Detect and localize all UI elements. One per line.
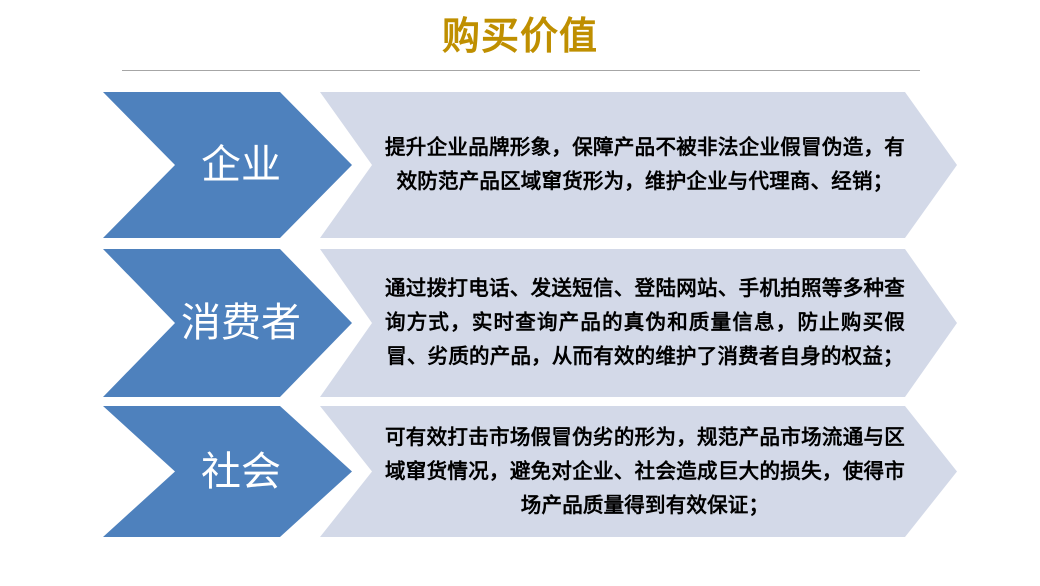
page-title: 购买价值 <box>0 14 1040 60</box>
label-chevron[interactable]: 消费者 <box>103 249 352 397</box>
label-chevron-label: 企业 <box>181 92 301 238</box>
label-chevron[interactable]: 社会 <box>103 406 352 537</box>
value-row: 企业 提升企业品牌形象，保障产品不被非法企业假冒伪造，有效防范产品区域窜货形为，… <box>0 92 1040 238</box>
detail-text-block: 通过拨打电话、发送短信、登陆网站、手机拍照等多种查询方式，实时查询产品的真伪和质… <box>385 249 905 397</box>
label-chevron[interactable]: 企业 <box>103 92 352 238</box>
detail-text: 提升企业品牌形象，保障产品不被非法企业假冒伪造，有效防范产品区域窜货形为，维护企… <box>385 131 905 199</box>
title-block: 购买价值 <box>0 0 1040 78</box>
label-chevron-label: 社会 <box>181 406 301 537</box>
detail-text-block: 提升企业品牌形象，保障产品不被非法企业假冒伪造，有效防范产品区域窜货形为，维护企… <box>385 92 905 238</box>
value-row: 消费者 通过拨打电话、发送短信、登陆网站、手机拍照等多种查询方式，实时查询产品的… <box>0 249 1040 397</box>
detail-text: 可有效打击市场假冒伪劣的形为，规范产品市场流通与区域窜货情况，避免对企业、社会造… <box>385 421 905 523</box>
detail-text: 通过拨打电话、发送短信、登陆网站、手机拍照等多种查询方式，实时查询产品的真伪和质… <box>385 272 905 374</box>
label-chevron-label: 消费者 <box>181 249 301 397</box>
detail-text-block: 可有效打击市场假冒伪劣的形为，规范产品市场流通与区域窜货情况，避免对企业、社会造… <box>385 406 905 537</box>
title-divider <box>122 70 920 71</box>
value-row: 社会 可有效打击市场假冒伪劣的形为，规范产品市场流通与区域窜货情况，避免对企业、… <box>0 406 1040 537</box>
